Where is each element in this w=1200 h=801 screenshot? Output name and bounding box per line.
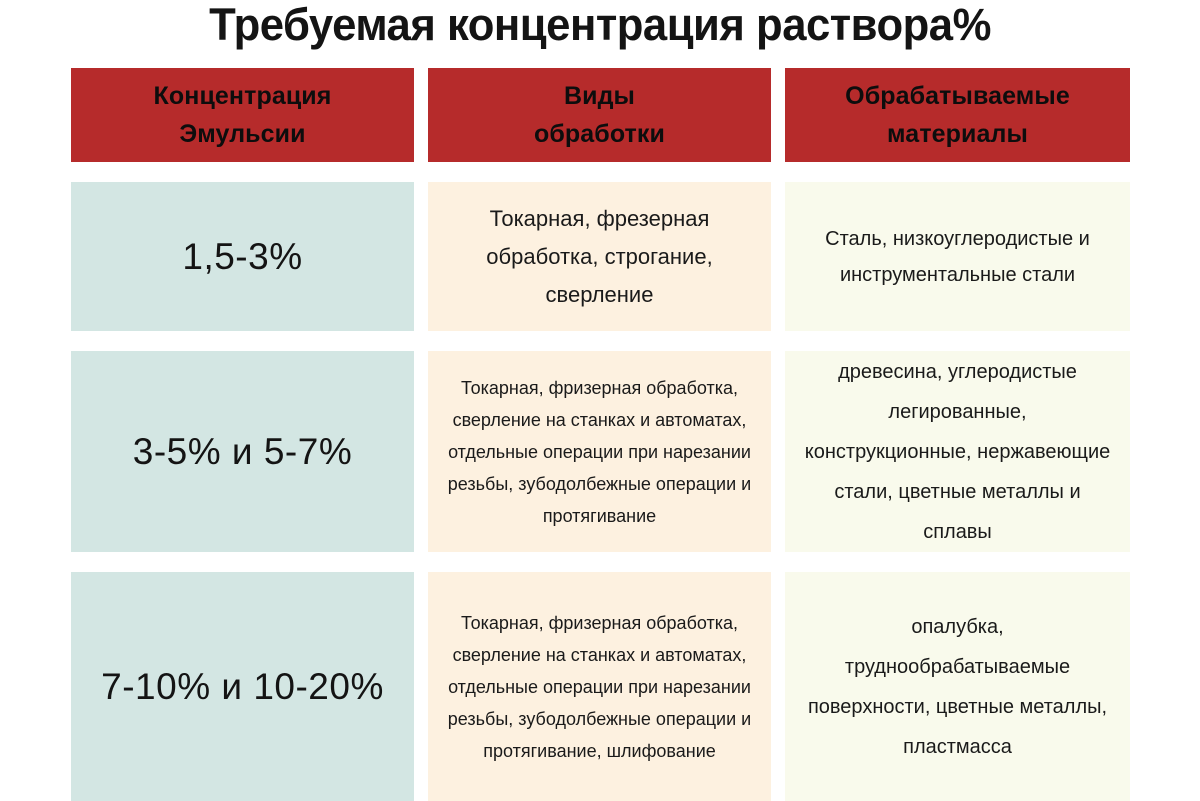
cell-materials-1: Сталь, низкоуглеродистые и инструменталь…	[803, 221, 1112, 293]
table-row: 3-5% и 5-7%	[71, 351, 414, 552]
page-title: Требуемая концентрация раствора%	[18, 0, 1182, 52]
table-header-concentration: Концентрация Эмульсии	[71, 68, 414, 162]
header-line-1: Обрабатываемые	[845, 77, 1070, 115]
cell-concentration-3: 7-10% и 10-20%	[81, 665, 404, 709]
table-row: 1,5-3%	[71, 182, 414, 331]
cell-concentration-2: 3-5% и 5-7%	[81, 430, 404, 474]
table-row: 7-10% и 10-20%	[71, 572, 414, 801]
cell-processing-3: Токарная, фризерная обработка, сверление…	[444, 607, 755, 767]
header-line-2: Эмульсии	[154, 115, 332, 153]
header-line-2: обработки	[534, 115, 665, 153]
infographic-table-page: Требуемая концентрация раствора% Концент…	[0, 0, 1200, 800]
header-line-1: Виды	[534, 77, 665, 115]
concentration-table: Концентрация Эмульсии Виды обработки Обр…	[71, 68, 1131, 800]
cell-materials-2: древесина, углеродистые легированные, ко…	[803, 352, 1112, 552]
table-row: Сталь, низкоуглеродистые и инструменталь…	[785, 182, 1130, 331]
table-row: древесина, углеродистые легированные, ко…	[785, 351, 1130, 552]
cell-processing-2: Токарная, фризерная обработка, сверление…	[444, 372, 755, 532]
table-header-materials: Обрабатываемые материалы	[785, 68, 1130, 162]
table-row: Токарная, фризерная обработка, сверление…	[428, 351, 771, 552]
header-line-2: материалы	[845, 115, 1070, 153]
table-row: Токарная, фрезерная обработка, строгание…	[428, 182, 771, 331]
table-row: Токарная, фризерная обработка, сверление…	[428, 572, 771, 801]
cell-processing-1: Токарная, фрезерная обработка, строгание…	[444, 200, 755, 314]
cell-concentration-1: 1,5-3%	[81, 235, 404, 279]
table-row: опалубка, труднообрабатываемые поверхнос…	[785, 572, 1130, 801]
cell-materials-3: опалубка, труднообрабатываемые поверхнос…	[803, 607, 1112, 767]
table-header-processing-types: Виды обработки	[428, 68, 771, 162]
header-line-1: Концентрация	[154, 77, 332, 115]
